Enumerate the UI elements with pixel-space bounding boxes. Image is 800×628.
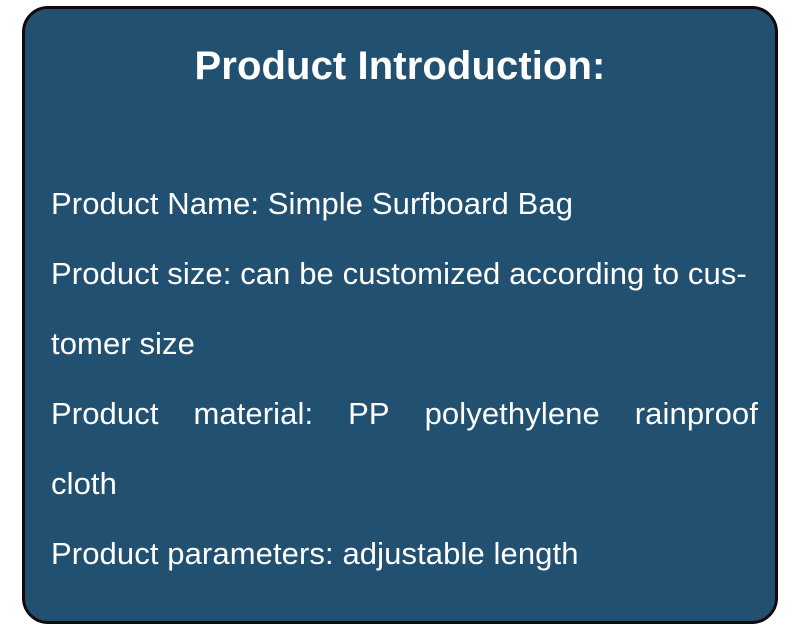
product-details-list: Product Name: Simple Surfboard Bag Produ…	[51, 169, 758, 589]
material-word: rainproof	[635, 379, 758, 449]
product-name-line: Product Name: Simple Surfboard Bag	[51, 169, 758, 239]
product-material-line-2: cloth	[51, 449, 758, 519]
material-word: polyethylene	[425, 379, 600, 449]
product-introduction-card: Product Introduction: Product Name: Simp…	[22, 6, 778, 624]
page-title: Product Introduction:	[25, 43, 775, 89]
product-parameters-line: Product parameters: adjustable length	[51, 519, 758, 589]
product-size-line-1: Product size: can be customized accordin…	[51, 239, 758, 309]
material-word: PP	[348, 379, 390, 449]
product-material-line-1: Product material: PP polyethylene rainpr…	[51, 379, 758, 449]
material-word: Product	[51, 379, 159, 449]
product-size-line-2: tomer size	[51, 309, 758, 379]
material-word: material:	[193, 379, 313, 449]
